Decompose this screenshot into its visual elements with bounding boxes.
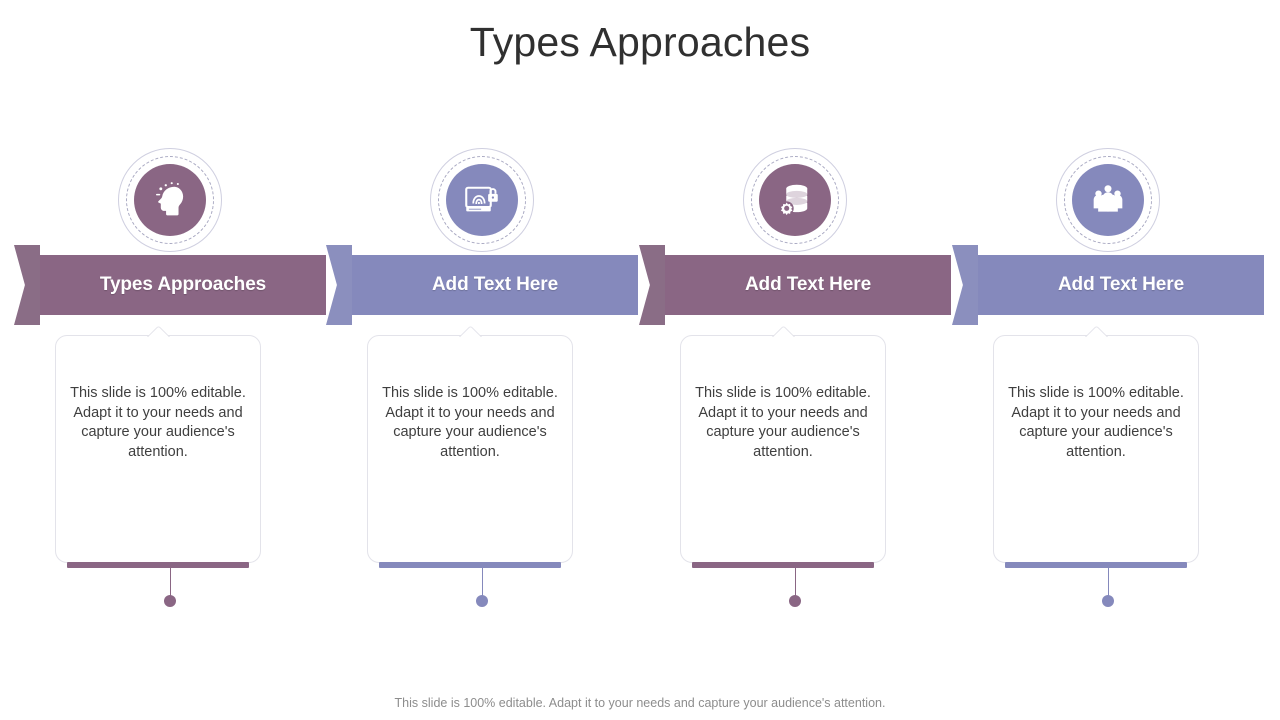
ribbon-fold-3: [639, 245, 665, 325]
fingerprint-lock-icon: [446, 164, 518, 236]
ribbon-body-3: Add Text Here: [665, 255, 951, 315]
ribbon-label-2: Add Text Here: [432, 274, 558, 296]
ribbon-3[interactable]: Add Text Here: [639, 245, 951, 325]
column-3: Add Text Here This slide is 100% editabl…: [639, 140, 951, 630]
content-card-3: This slide is 100% editable. Adapt it to…: [680, 335, 886, 563]
icon-badge-1: [118, 148, 222, 252]
card-text-4: This slide is 100% editable. Adapt it to…: [1006, 384, 1186, 462]
content-card-1: This slide is 100% editable. Adapt it to…: [55, 335, 261, 563]
page-title: Types Approaches: [0, 16, 1280, 68]
column-2: Add Text Here This slide is 100% editabl…: [326, 140, 638, 630]
card-accent-bar-1: [67, 562, 249, 568]
ribbon-label-3: Add Text Here: [745, 274, 871, 296]
connector-stem-4: [1108, 568, 1109, 597]
ribbon-fold-4: [952, 245, 978, 325]
ribbon-fold-1: [14, 245, 40, 325]
ribbon-label-4: Add Text Here: [1058, 274, 1184, 296]
card-notch-2: [453, 325, 487, 337]
ribbon-1[interactable]: Types Approaches: [14, 245, 326, 325]
ribbon-label-1: Types Approaches: [100, 274, 266, 296]
connector-stem-3: [795, 568, 796, 597]
card-notch-1: [141, 325, 175, 337]
connector-dot-1: [164, 595, 176, 607]
columns-container: Types Approaches This slide is 100% edit…: [0, 140, 1280, 630]
card-notch-4: [1079, 325, 1113, 337]
ribbon-fold-2: [326, 245, 352, 325]
card-accent-bar-2: [379, 562, 561, 568]
card-text-2: This slide is 100% editable. Adapt it to…: [380, 384, 560, 462]
head-lightbulb-icon: [134, 164, 206, 236]
footer-note: This slide is 100% editable. Adapt it to…: [0, 694, 1280, 712]
connector-stem-2: [482, 568, 483, 597]
ribbon-body-4: Add Text Here: [978, 255, 1264, 315]
column-1: Types Approaches This slide is 100% edit…: [14, 140, 326, 630]
card-accent-bar-4: [1005, 562, 1187, 568]
database-gear-icon: [759, 164, 831, 236]
card-notch-3: [766, 325, 800, 337]
icon-badge-4: [1056, 148, 1160, 252]
card-text-1: This slide is 100% editable. Adapt it to…: [68, 384, 248, 462]
connector-dot-4: [1102, 595, 1114, 607]
connector-dot-3: [789, 595, 801, 607]
ribbon-body-2: Add Text Here: [352, 255, 638, 315]
card-text-3: This slide is 100% editable. Adapt it to…: [693, 384, 873, 462]
column-4: Add Text Here This slide is 100% editabl…: [952, 140, 1264, 630]
content-card-2: This slide is 100% editable. Adapt it to…: [367, 335, 573, 563]
card-accent-bar-3: [692, 562, 874, 568]
connector-stem-1: [170, 568, 171, 597]
connector-dot-2: [476, 595, 488, 607]
icon-badge-2: [430, 148, 534, 252]
people-group-icon: [1072, 164, 1144, 236]
ribbon-4[interactable]: Add Text Here: [952, 245, 1264, 325]
ribbon-body-1: Types Approaches: [40, 255, 326, 315]
ribbon-2[interactable]: Add Text Here: [326, 245, 638, 325]
content-card-4: This slide is 100% editable. Adapt it to…: [993, 335, 1199, 563]
icon-badge-3: [743, 148, 847, 252]
